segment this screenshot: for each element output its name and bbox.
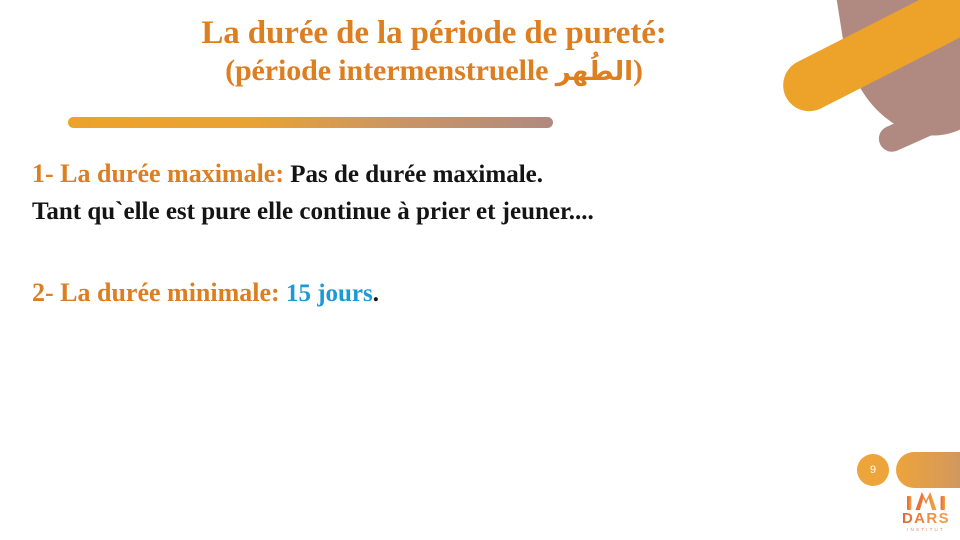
body-item-2: 2- La durée minimale: 15 jours.	[32, 274, 862, 312]
title-subtitle-prefix: (période intermenstruelle	[225, 54, 556, 87]
slide-title: La durée de la période de pureté: (pério…	[0, 14, 868, 88]
body-item-2-text-after: .	[373, 280, 379, 307]
title-divider-bar	[68, 117, 553, 128]
title-line-primary: La durée de la période de pureté:	[0, 14, 868, 53]
title-subtitle-suffix: )	[633, 54, 643, 87]
logo-mark-icon	[907, 492, 945, 510]
title-line-secondary: (période intermenstruelle الطُهر)	[0, 53, 868, 88]
body-item-2-lead: 2- La durée minimale:	[32, 278, 280, 307]
slide-canvas: La durée de la période de pureté: (pério…	[0, 0, 960, 540]
slide-body: 1- La durée maximale: Pas de durée maxim…	[32, 155, 862, 313]
page-number-badge: 9	[857, 454, 889, 486]
logo-subtitle: INSTITUT	[907, 528, 945, 533]
logo-wordmark: DARS	[902, 511, 950, 526]
body-item-1-continuation: Tant qu`elle est pure elle continue à pr…	[32, 198, 594, 225]
body-item-2-highlight: 15 jours	[286, 280, 373, 307]
body-item-1: 1- La durée maximale: Pas de durée maxim…	[32, 155, 862, 230]
title-subtitle-arabic: الطُهر	[556, 57, 633, 87]
footer-accent-pill	[896, 452, 960, 488]
decorative-bar-mauve-icon	[875, 61, 960, 156]
dars-logo: DARS INSTITUT	[895, 492, 957, 536]
body-item-1-lead: 1- La durée maximale:	[32, 159, 284, 188]
body-item-1-text: Pas de durée maximale.	[284, 161, 543, 188]
